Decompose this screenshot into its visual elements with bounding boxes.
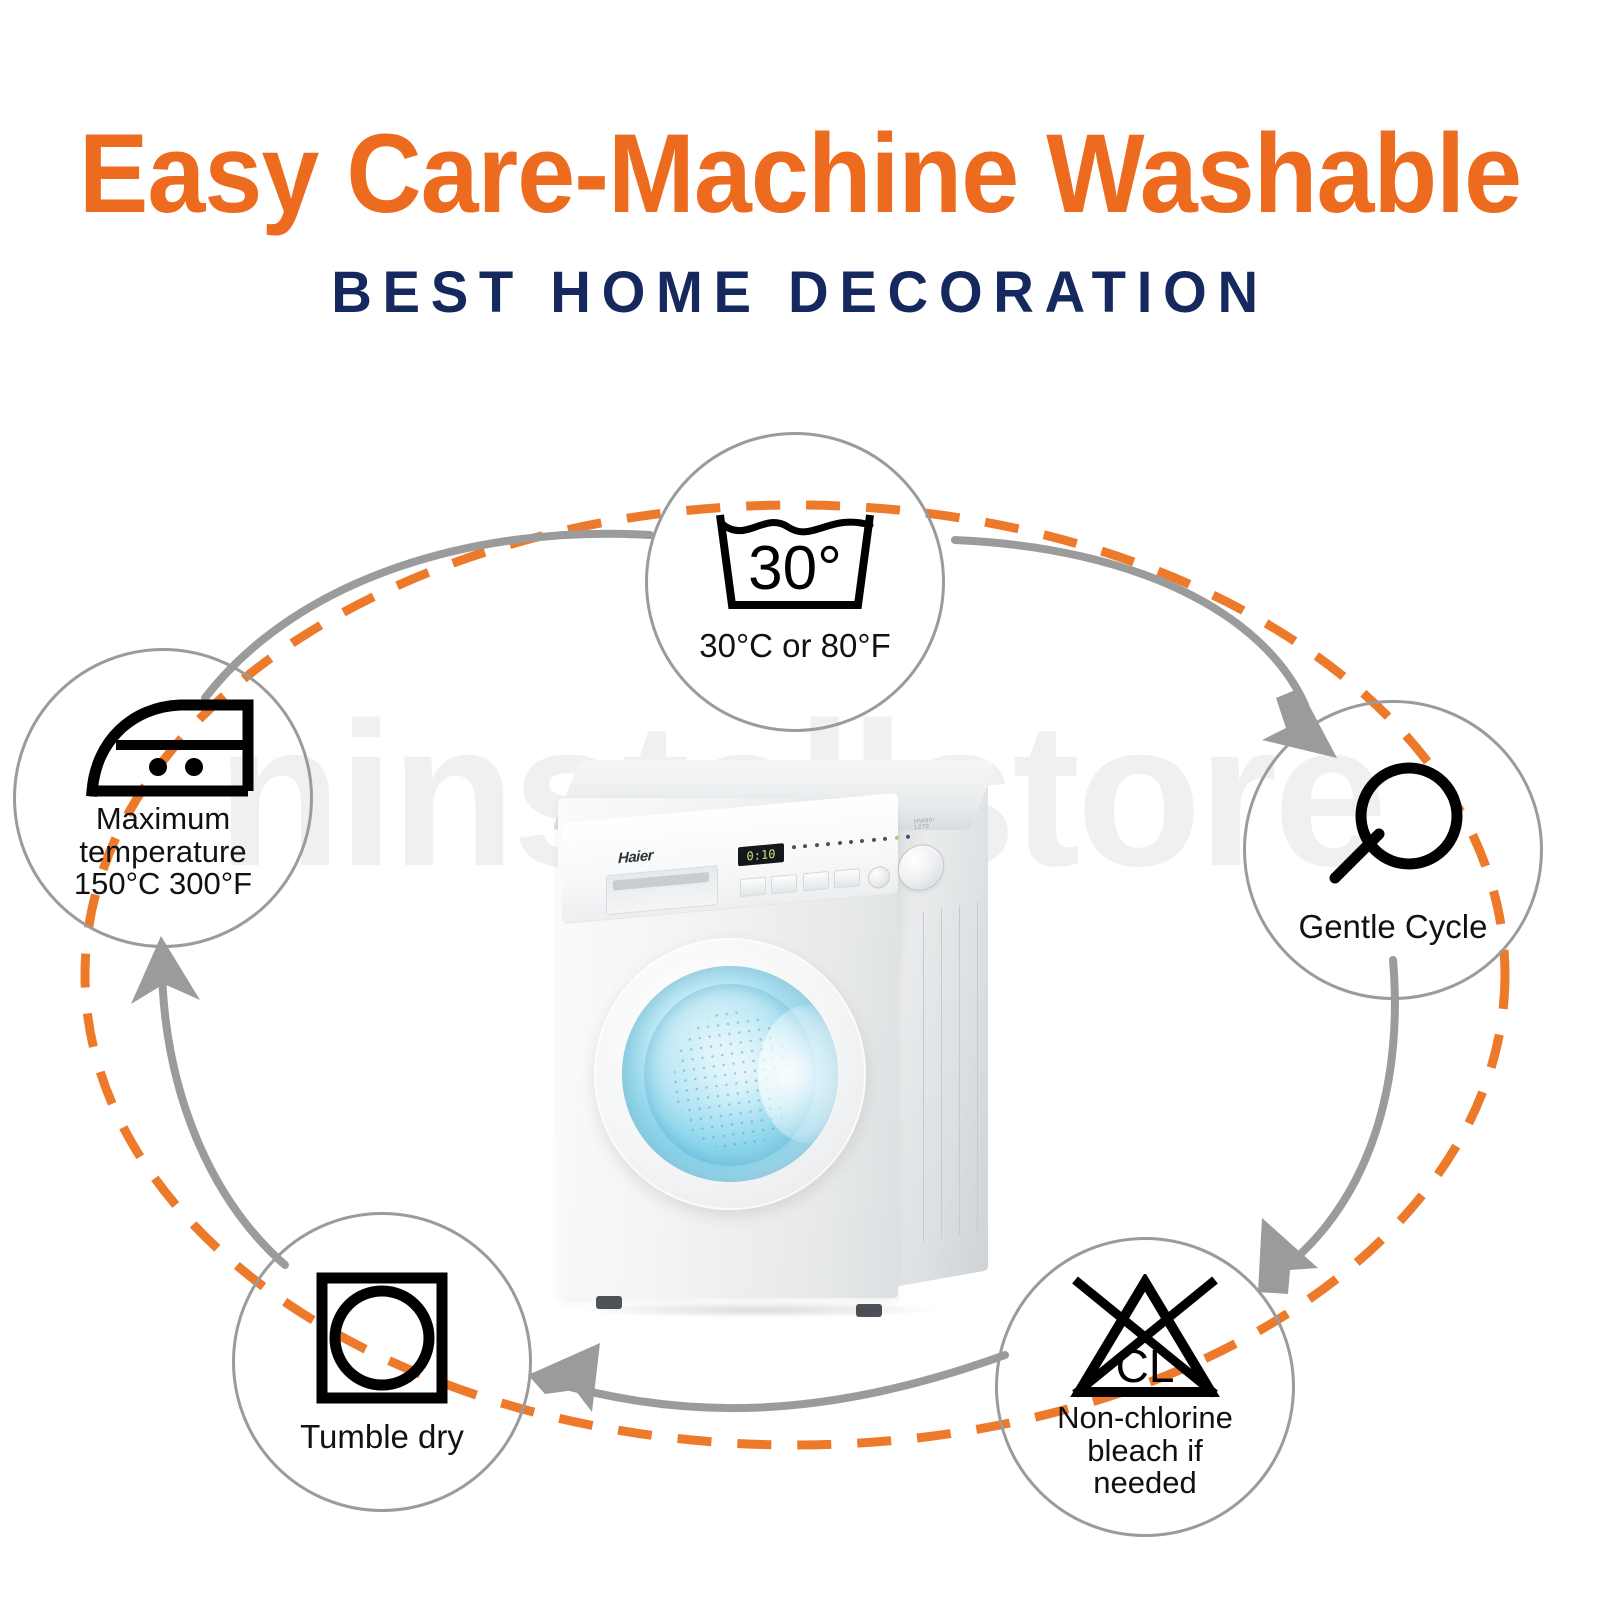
iron-two-dots-icon xyxy=(70,695,256,799)
bleach-cl-text: CL xyxy=(1116,1340,1175,1392)
flow-arc-bleach-to-tumble xyxy=(545,1355,1005,1408)
node-iron-temperature[interactable]: Maximum temperature 150°C 300°F xyxy=(13,648,313,948)
node-label-gentle-cycle: Gentle Cycle xyxy=(1299,910,1488,945)
page-subtitle: BEST HOME DECORATION xyxy=(24,230,1576,322)
node-tumble-dry[interactable]: Tumble dry xyxy=(232,1212,532,1512)
arrowhead-to-tumble xyxy=(528,1343,600,1412)
detergent-drawer[interactable] xyxy=(606,865,718,915)
wash-tub-icon: 30° xyxy=(706,501,884,621)
node-label-tumble-dry: Tumble dry xyxy=(300,1420,464,1455)
node-label-wash-temperature: 30°C or 80°F xyxy=(699,629,890,664)
wash-tub-temp-text: 30° xyxy=(748,534,842,603)
node-label-bleach-line2: bleach if xyxy=(1057,1435,1233,1468)
temperature-knob[interactable] xyxy=(868,865,890,889)
washer-display-value: 0:10 xyxy=(747,846,776,863)
poster-canvas: Easy Care-Machine Washable BEST HOME DEC… xyxy=(0,0,1600,1600)
washer-door-ring[interactable] xyxy=(594,938,866,1210)
program-button-row[interactable] xyxy=(740,868,860,897)
node-non-chlorine-bleach[interactable]: CL Non-chlorine bleach if needed xyxy=(995,1237,1295,1537)
node-gentle-cycle[interactable]: Gentle Cycle xyxy=(1243,700,1543,1000)
washer-shadow xyxy=(578,1302,938,1318)
tumble-dry-icon xyxy=(314,1270,450,1406)
washer-brand-logo: Haier xyxy=(618,847,653,867)
header: Easy Care-Machine Washable BEST HOME DEC… xyxy=(0,0,1600,322)
node-wash-temperature[interactable]: 30° 30°C or 80°F xyxy=(645,432,945,732)
node-label-iron-line2: temperature xyxy=(74,836,252,869)
gentle-cycle-icon xyxy=(1313,756,1473,906)
no-chlorine-bleach-icon: CL xyxy=(1065,1274,1225,1400)
node-label-bleach-line3: needed xyxy=(1057,1467,1233,1500)
node-label-iron-line1: Maximum xyxy=(74,803,252,836)
flow-arc-gentle-to-bleach xyxy=(1268,960,1395,1280)
washing-machine-image: Haier 0:10 HW60-1279 xyxy=(548,742,1018,1322)
page-title: Easy Care-Machine Washable xyxy=(56,0,1544,230)
washer-display: 0:10 xyxy=(738,843,784,866)
washer-drum-perforations xyxy=(665,1005,799,1158)
node-label-iron-line3: 150°C 300°F xyxy=(74,868,252,901)
program-led-row xyxy=(792,835,910,854)
node-label-bleach-line1: Non-chlorine xyxy=(1057,1402,1233,1435)
washer-model-code: HW60-1279 xyxy=(914,817,935,831)
washer-door-glass xyxy=(622,966,838,1182)
